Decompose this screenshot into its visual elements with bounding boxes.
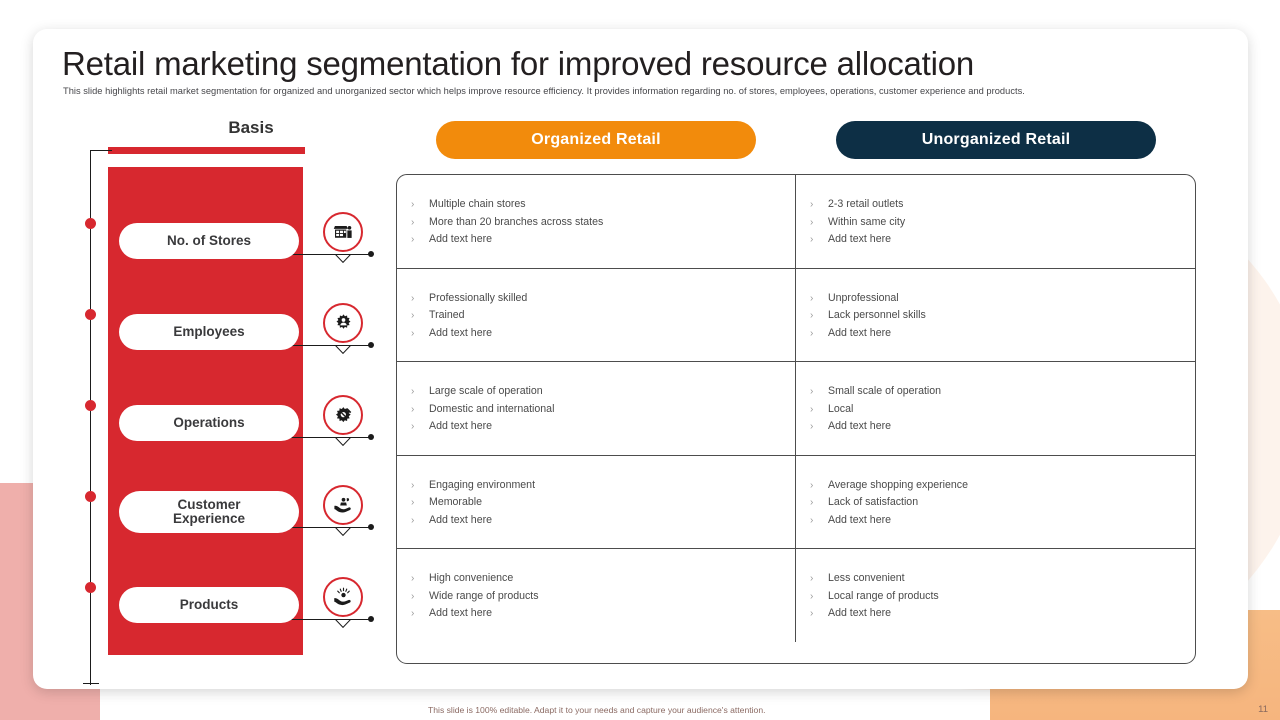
bullet-item: ›2-3 retail outlets bbox=[810, 197, 1195, 212]
bullet-text: Wide range of products bbox=[429, 589, 539, 603]
chevron-right-icon: › bbox=[411, 233, 429, 247]
bullet-text: Lack of satisfaction bbox=[828, 495, 918, 509]
chevron-right-icon: › bbox=[810, 292, 828, 306]
chevron-right-icon: › bbox=[810, 572, 828, 586]
bullet-text: Add text here bbox=[828, 326, 891, 340]
chevron-right-icon: › bbox=[810, 233, 828, 247]
connector-end-dot bbox=[368, 434, 374, 440]
storefront-icon[interactable] bbox=[323, 212, 363, 252]
bullet-text: Add text here bbox=[429, 419, 492, 433]
column-header-unorganized-label: Unorganized Retail bbox=[922, 131, 1071, 149]
bullet-item: ›Unprofessional bbox=[810, 291, 1195, 306]
table-cell-unorganized: ›2-3 retail outlets›Within same city›Add… bbox=[796, 175, 1195, 268]
basis-item-label: No. of Stores bbox=[167, 234, 251, 248]
chevron-right-icon: › bbox=[810, 198, 828, 212]
chevron-right-icon: › bbox=[411, 309, 429, 323]
bullet-item: ›Average shopping experience bbox=[810, 478, 1195, 493]
bullet-text: Add text here bbox=[429, 606, 492, 620]
chevron-right-icon: › bbox=[810, 479, 828, 493]
bullet-item: ›Add text here bbox=[411, 606, 795, 621]
connector-end-dot bbox=[368, 616, 374, 622]
chevron-right-icon: › bbox=[411, 590, 429, 604]
bullet-text: Add text here bbox=[429, 513, 492, 527]
timeline-spine-head bbox=[90, 150, 112, 151]
bullet-item: ›Add text here bbox=[411, 419, 795, 434]
bullet-item: ›Domestic and international bbox=[411, 402, 795, 417]
bullet-text: Engaging environment bbox=[429, 478, 535, 492]
bullet-text: High convenience bbox=[429, 571, 513, 585]
bullet-item: ›Add text here bbox=[810, 606, 1195, 621]
basis-item-customer-experience[interactable]: CustomerExperience bbox=[119, 491, 299, 533]
bullet-text: Memorable bbox=[429, 495, 482, 509]
chevron-right-icon: › bbox=[411, 403, 429, 417]
table-cell-organized: ›High convenience›Wide range of products… bbox=[397, 549, 796, 642]
chevron-right-icon: › bbox=[810, 327, 828, 341]
connector-end-dot bbox=[368, 342, 374, 348]
table-row: ›Professionally skilled›Trained›Add text… bbox=[397, 269, 1195, 363]
table-cell-unorganized: ›Unprofessional›Lack personnel skills›Ad… bbox=[796, 269, 1195, 362]
bullet-item: ›Large scale of operation bbox=[411, 384, 795, 399]
chevron-right-icon: › bbox=[411, 496, 429, 510]
bullet-text: Large scale of operation bbox=[429, 384, 543, 398]
chevron-right-icon: › bbox=[411, 420, 429, 434]
chevron-right-icon: › bbox=[411, 572, 429, 586]
page-number: 11 bbox=[1258, 704, 1268, 715]
basis-item-products[interactable]: Products bbox=[119, 587, 299, 623]
bullet-item: ›Local range of products bbox=[810, 589, 1195, 604]
table-cell-organized: ›Engaging environment›Memorable›Add text… bbox=[397, 456, 796, 549]
comparison-table: ›Multiple chain stores›More than 20 bran… bbox=[396, 174, 1196, 664]
basis-item-label: Operations bbox=[173, 416, 244, 430]
timeline-spine-foot bbox=[83, 683, 99, 684]
chevron-right-icon: › bbox=[411, 479, 429, 493]
bullet-item: ›Within same city bbox=[810, 215, 1195, 230]
chevron-right-icon: › bbox=[411, 607, 429, 621]
connector-chevron bbox=[335, 527, 351, 536]
timeline-dot bbox=[85, 400, 96, 411]
bullet-item: ›Add text here bbox=[411, 513, 795, 528]
basis-heading: Basis bbox=[151, 118, 351, 138]
products-hands-icon[interactable] bbox=[323, 577, 363, 617]
bullet-text: Multiple chain stores bbox=[429, 197, 526, 211]
bullet-item: ›Multiple chain stores bbox=[411, 197, 795, 212]
bullet-item: ›Add text here bbox=[810, 326, 1195, 341]
bullet-item: ›More than 20 branches across states bbox=[411, 215, 795, 230]
table-cell-organized: ›Professionally skilled›Trained›Add text… bbox=[397, 269, 796, 362]
connector-end-dot bbox=[368, 524, 374, 530]
bullet-item: ›Professionally skilled bbox=[411, 291, 795, 306]
chevron-right-icon: › bbox=[810, 496, 828, 510]
bullet-text: Domestic and international bbox=[429, 402, 554, 416]
timeline-spine bbox=[90, 150, 91, 685]
bullet-text: More than 20 branches across states bbox=[429, 215, 603, 229]
bullet-text: Local bbox=[828, 402, 853, 416]
table-cell-organized: ›Multiple chain stores›More than 20 bran… bbox=[397, 175, 796, 268]
connector-chevron bbox=[335, 619, 351, 628]
table-row: ›High convenience›Wide range of products… bbox=[397, 549, 1195, 642]
bullet-text: Small scale of operation bbox=[828, 384, 941, 398]
bullet-text: Within same city bbox=[828, 215, 905, 229]
bullet-text: Add text here bbox=[828, 232, 891, 246]
bullet-text: 2-3 retail outlets bbox=[828, 197, 903, 211]
basis-item-label: Employees bbox=[173, 325, 244, 339]
table-row: ›Multiple chain stores›More than 20 bran… bbox=[397, 175, 1195, 269]
bullet-item: ›Trained bbox=[411, 308, 795, 323]
chevron-right-icon: › bbox=[411, 327, 429, 341]
bullet-item: ›Lack of satisfaction bbox=[810, 495, 1195, 510]
bullet-text: Add text here bbox=[429, 232, 492, 246]
table-cell-unorganized: ›Small scale of operation›Local›Add text… bbox=[796, 362, 1195, 455]
timeline-dot bbox=[85, 491, 96, 502]
bullet-item: ›High convenience bbox=[411, 571, 795, 586]
bullet-text: Local range of products bbox=[828, 589, 939, 603]
column-header-unorganized[interactable]: Unorganized Retail bbox=[836, 121, 1156, 159]
basis-item-label: CustomerExperience bbox=[173, 498, 245, 526]
bullet-text: Add text here bbox=[828, 606, 891, 620]
chevron-right-icon: › bbox=[810, 216, 828, 230]
connector-chevron bbox=[335, 437, 351, 446]
connector-chevron bbox=[335, 345, 351, 354]
bullet-item: ›Wide range of products bbox=[411, 589, 795, 604]
chevron-right-icon: › bbox=[411, 514, 429, 528]
table-row: ›Large scale of operation›Domestic and i… bbox=[397, 362, 1195, 456]
chevron-right-icon: › bbox=[810, 420, 828, 434]
slide-card: Retail marketing segmentation for improv… bbox=[33, 29, 1248, 689]
chevron-right-icon: › bbox=[810, 403, 828, 417]
bullet-item: ›Add text here bbox=[411, 326, 795, 341]
bullet-text: Less convenient bbox=[828, 571, 905, 585]
table-cell-organized: ›Large scale of operation›Domestic and i… bbox=[397, 362, 796, 455]
bullet-item: ›Add text here bbox=[411, 232, 795, 247]
bullet-item: ›Memorable bbox=[411, 495, 795, 510]
page-title: Retail marketing segmentation for improv… bbox=[62, 45, 1192, 83]
chevron-right-icon: › bbox=[810, 607, 828, 621]
basis-top-bar bbox=[108, 147, 305, 154]
basis-item-employees[interactable]: Employees bbox=[119, 314, 299, 350]
basis-item-no-of-stores[interactable]: No. of Stores bbox=[119, 223, 299, 259]
bullet-item: ›Add text here bbox=[810, 232, 1195, 247]
bullet-item: ›Add text here bbox=[810, 419, 1195, 434]
chevron-right-icon: › bbox=[810, 309, 828, 323]
chevron-right-icon: › bbox=[810, 590, 828, 604]
table-cell-unorganized: ›Average shopping experience›Lack of sat… bbox=[796, 456, 1195, 549]
bullet-text: Unprofessional bbox=[828, 291, 899, 305]
bullet-text: Add text here bbox=[429, 326, 492, 340]
timeline-dot bbox=[85, 218, 96, 229]
bullet-item: ›Add text here bbox=[810, 513, 1195, 528]
connector-end-dot bbox=[368, 251, 374, 257]
bullet-text: Add text here bbox=[828, 513, 891, 527]
table-cell-unorganized: ›Less convenient›Local range of products… bbox=[796, 549, 1195, 642]
chevron-right-icon: › bbox=[810, 385, 828, 399]
bullet-text: Professionally skilled bbox=[429, 291, 527, 305]
page-subtitle: This slide highlights retail market segm… bbox=[63, 86, 1203, 96]
bullet-item: ›Engaging environment bbox=[411, 478, 795, 493]
bullet-item: ›Less convenient bbox=[810, 571, 1195, 586]
timeline-dot bbox=[85, 582, 96, 593]
chevron-right-icon: › bbox=[411, 292, 429, 306]
column-header-organized[interactable]: Organized Retail bbox=[436, 121, 756, 159]
basis-item-label: Products bbox=[180, 598, 239, 612]
chevron-right-icon: › bbox=[411, 216, 429, 230]
customer-experience-hands-icon[interactable] bbox=[323, 485, 363, 525]
bullet-text: Average shopping experience bbox=[828, 478, 968, 492]
chevron-right-icon: › bbox=[411, 198, 429, 212]
column-header-organized-label: Organized Retail bbox=[531, 131, 660, 149]
employees-gear-icon[interactable] bbox=[323, 303, 363, 343]
operations-gear-icon[interactable] bbox=[323, 395, 363, 435]
timeline-dot bbox=[85, 309, 96, 320]
bullet-text: Lack personnel skills bbox=[828, 308, 926, 322]
footer-note: This slide is 100% editable. Adapt it to… bbox=[428, 705, 766, 715]
connector-chevron bbox=[335, 254, 351, 263]
basis-item-operations[interactable]: Operations bbox=[119, 405, 299, 441]
table-row: ›Engaging environment›Memorable›Add text… bbox=[397, 456, 1195, 550]
bullet-text: Add text here bbox=[828, 419, 891, 433]
bullet-item: ›Small scale of operation bbox=[810, 384, 1195, 399]
chevron-right-icon: › bbox=[810, 514, 828, 528]
bullet-item: ›Local bbox=[810, 402, 1195, 417]
bullet-text: Trained bbox=[429, 308, 465, 322]
chevron-right-icon: › bbox=[411, 385, 429, 399]
bullet-item: ›Lack personnel skills bbox=[810, 308, 1195, 323]
